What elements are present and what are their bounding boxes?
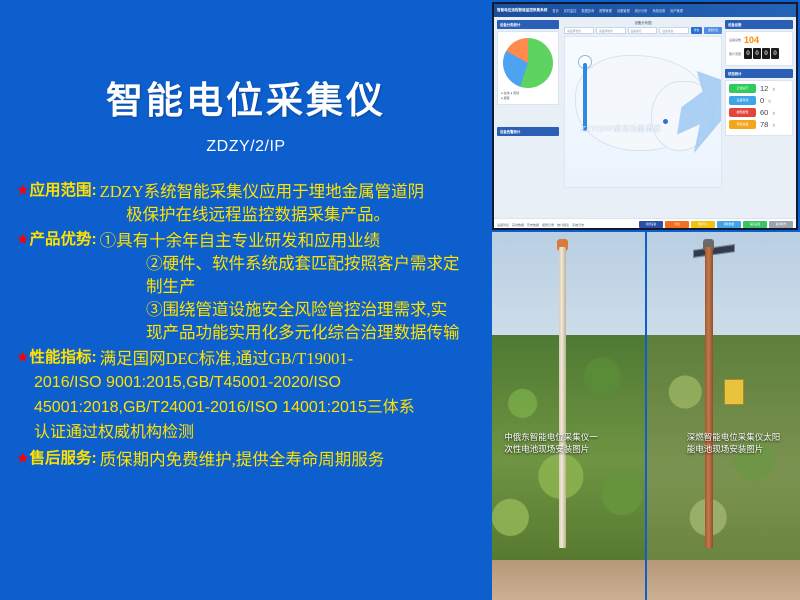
bullet-label: 应用范围: — [29, 180, 96, 202]
monitoring-pole — [705, 247, 713, 549]
kpi-label: 设备总数 — [729, 38, 741, 42]
status-badge: 待检设备 — [729, 120, 756, 129]
odometer-digit: 0 — [744, 48, 752, 59]
bullet-line: 满足国网DEC标准,通过GB/T19001- — [100, 347, 353, 370]
bullet-line: ZDZY系统智能采集仪应用于埋地金属管道阴 — [100, 180, 425, 203]
dashboard-nav-item[interactable]: 用户管理 — [670, 8, 683, 13]
odometer-digit: 0 — [753, 48, 761, 59]
panel-header: 设备分类统计 — [497, 20, 559, 29]
status-unit: 台 — [772, 123, 775, 127]
province-filter[interactable]: 请选择省份 — [564, 27, 594, 34]
status-value: 78 — [760, 120, 768, 129]
footer-tab[interactable]: 报警记录 — [542, 223, 554, 227]
footer-button-save[interactable]: 保存设置 — [743, 221, 767, 228]
dashboard-nav-item[interactable]: 设备管理 — [617, 8, 630, 13]
bullet-list: ★ 应用范围: ZDZY系统智能采集仪应用于埋地金属管道阴 极保护在线远程监控数… — [0, 180, 492, 471]
dashboard-screenshot: 智能电位远程智能监控采集系统 首页 实时监控 数据查询 报警管理 设备管理 统计… — [492, 2, 798, 230]
footer-tab[interactable]: 系统日志 — [572, 223, 584, 227]
odometer-digit: 0 — [762, 48, 770, 59]
dashboard-body: 设备分类统计 ● 在线 ● 离线 ● 报警 设备告警统计 设备分布图 请选择省份… — [494, 17, 796, 218]
photo-caption: 中俄东智能电位采集仪一次性电池现场安装图片 — [504, 431, 599, 455]
bullet-line: ③围绕管道设施安全风险管控治理需求,实 — [146, 298, 478, 321]
status-value: 60 — [760, 108, 768, 117]
field-photo-left: 中俄东智能电位采集仪一次性电池现场安装图片 — [492, 232, 645, 600]
map-marker-stem — [583, 63, 587, 131]
pie-chart — [503, 38, 553, 88]
footer-button-refresh[interactable]: 刷新数据 — [717, 221, 741, 228]
footer-tab[interactable]: 实时数据 — [512, 223, 524, 227]
warning-sign — [724, 379, 744, 405]
panel-header-2: 设备告警统计 — [497, 127, 559, 136]
bullet-line: 现产品功能实用化多元化综合治理数据传输 — [146, 321, 478, 344]
china-map[interactable]: ZZY/2/IP后台功能显示 — [564, 36, 722, 188]
dashboard-footer: 设备列表 实时数据 历史数据 报警记录 统计报表 系统日志 新增设备 导出 批量… — [494, 218, 796, 230]
status-stats-card: 正常运行 12 台 设备离线 0 台 故障报警 60 台 — [725, 80, 793, 136]
footer-button-export[interactable]: 导出 — [665, 221, 689, 228]
bullet-application-scope: ★ 应用范围: ZDZY系统智能采集仪应用于埋地金属管道阴 极保护在线远程监控数… — [16, 180, 478, 226]
status-badge: 正常运行 — [729, 84, 756, 93]
status-value: 12 — [760, 84, 768, 93]
media-column: 智能电位远程智能监控采集系统 首页 实时监控 数据查询 报警管理 设备管理 统计… — [492, 0, 800, 600]
status-row: 正常运行 12 台 — [729, 84, 789, 93]
bullet-line: 制生产 — [146, 275, 478, 298]
photo-caption: 深燃智能电位采集仪太阳能电池现场安装图片 — [687, 431, 782, 455]
status-badge: 设备离线 — [729, 96, 756, 105]
sky-background — [492, 232, 645, 350]
reset-export-button[interactable]: 重置导出 — [704, 27, 722, 34]
bullet-line: ②硬件、软件系统成套匹配按照客户需求定 — [146, 252, 478, 275]
dashboard-logo: 智能电位远程智能监控采集系统 — [497, 8, 547, 13]
bullet-label: 产品优势: — [29, 229, 96, 251]
panel-header: 设备总数 — [725, 20, 793, 29]
kpi-value: 104 — [744, 35, 759, 45]
status-unit: 台 — [772, 111, 775, 115]
device-id-filter[interactable]: 设备编号 — [628, 27, 658, 34]
slide-subtitle: ZDZY/2/IP — [0, 138, 492, 156]
search-button[interactable]: 查询 — [691, 27, 702, 34]
ground-background — [492, 560, 645, 600]
odometer-label: 累计流量 — [729, 52, 741, 56]
status-row: 待检设备 78 台 — [729, 120, 789, 129]
bullet-line: 认证通过权威机构检测 — [34, 420, 478, 445]
pie-chart-card: ● 在线 ● 离线 ● 报警 — [497, 31, 559, 105]
pie-legend-line: ● 报警 — [501, 96, 510, 101]
bullet-line: 45001:2018,GB/T24001-2016/ISO 14001:2015… — [34, 395, 478, 420]
monitoring-pole — [559, 247, 566, 549]
map-device-dot[interactable] — [663, 119, 668, 124]
bullet-line: ①具有十余年自主专业研发和应用业绩 — [100, 229, 381, 252]
footer-button-cancel[interactable]: 取消操作 — [769, 221, 793, 228]
footer-tab[interactable]: 设备列表 — [497, 223, 509, 227]
dashboard-nav-item[interactable]: 系统设置 — [652, 8, 665, 13]
field-photo-right: 深燃智能电位采集仪太阳能电池现场安装图片 — [647, 232, 800, 600]
odometer: 0 0 0 0 — [744, 48, 779, 59]
status-row: 设备离线 0 台 — [729, 96, 789, 105]
bullet-line: 质保期内免费维护,提供全寿命周期服务 — [100, 448, 385, 471]
status-unit: 台 — [768, 99, 771, 103]
dashboard-center-panel: 设备分布图 请选择省份 请选择城市 设备编号 设备状态 查询 重置导出 Z — [562, 17, 724, 218]
dashboard-nav-item[interactable]: 统计分析 — [635, 8, 648, 13]
odometer-digit: 0 — [771, 48, 779, 59]
dashboard-nav-item[interactable]: 实时监控 — [564, 8, 577, 13]
dashboard-nav-item[interactable]: 数据查询 — [581, 8, 594, 13]
star-icon: ★ — [16, 229, 29, 251]
kpi-card: 设备总数 104 累计流量 0 0 0 0 — [725, 31, 793, 66]
status-filter[interactable]: 设备状态 — [659, 27, 689, 34]
city-filter[interactable]: 请选择城市 — [596, 27, 626, 34]
bullet-line: 2016/ISO 9001:2015,GB/T45001-2020/ISO — [34, 370, 478, 395]
star-icon: ★ — [16, 448, 29, 470]
footer-tab[interactable]: 历史数据 — [527, 223, 539, 227]
bullet-after-sales-service: ★ 售后服务: 质保期内免费维护,提供全寿命周期服务 — [16, 448, 478, 471]
status-unit: 台 — [772, 87, 775, 91]
footer-button-add[interactable]: 新增设备 — [639, 221, 663, 228]
status-value: 0 — [760, 96, 764, 105]
map-watermark: ZZY/2/IP后台功能显示 — [581, 123, 661, 134]
panel-header-2: 状态统计 — [725, 69, 793, 78]
footer-tab[interactable]: 统计报表 — [557, 223, 569, 227]
bullet-performance-specs: ★ 性能指标: 满足国网DEC标准,通过GB/T19001- 2016/ISO … — [16, 347, 478, 445]
footer-button-import[interactable]: 批量导入 — [691, 221, 715, 228]
bullet-product-advantages: ★ 产品优势: ①具有十余年自主专业研发和应用业绩 ②硬件、软件系统成套匹配按照… — [16, 229, 478, 344]
map-title: 设备分布图 — [564, 20, 722, 25]
bullet-line: 极保护在线远程监控数据采集产品。 — [126, 203, 478, 226]
filter-row: 请选择省份 请选择城市 设备编号 设备状态 查询 重置导出 — [564, 27, 722, 34]
dashboard-right-panel: 设备总数 设备总数 104 累计流量 0 0 0 0 — [724, 17, 796, 218]
status-row: 故障报警 60 台 — [729, 108, 789, 117]
field-photo-row: 中俄东智能电位采集仪一次性电池现场安装图片 深燃智能电位采集仪太阳能电池现场安装… — [492, 232, 800, 600]
dashboard-topbar: 智能电位远程智能监控采集系统 首页 实时监控 数据查询 报警管理 设备管理 统计… — [494, 4, 796, 17]
page-title: 智能电位采集仪 — [0, 70, 492, 124]
ground-background — [647, 560, 800, 600]
star-icon: ★ — [16, 347, 29, 369]
dashboard-nav-item[interactable]: 首页 — [552, 8, 558, 13]
bullet-label: 售后服务: — [29, 448, 96, 470]
bullet-label: 性能指标: — [29, 347, 96, 369]
dashboard-nav-item[interactable]: 报警管理 — [599, 8, 612, 13]
status-badge: 故障报警 — [729, 108, 756, 117]
dashboard-left-panel: 设备分类统计 ● 在线 ● 离线 ● 报警 设备告警统计 — [494, 17, 562, 218]
slide-text-column: 智能电位采集仪 ZDZY/2/IP ★ 应用范围: ZDZY系统智能采集仪应用于… — [0, 0, 492, 600]
star-icon: ★ — [16, 180, 29, 202]
